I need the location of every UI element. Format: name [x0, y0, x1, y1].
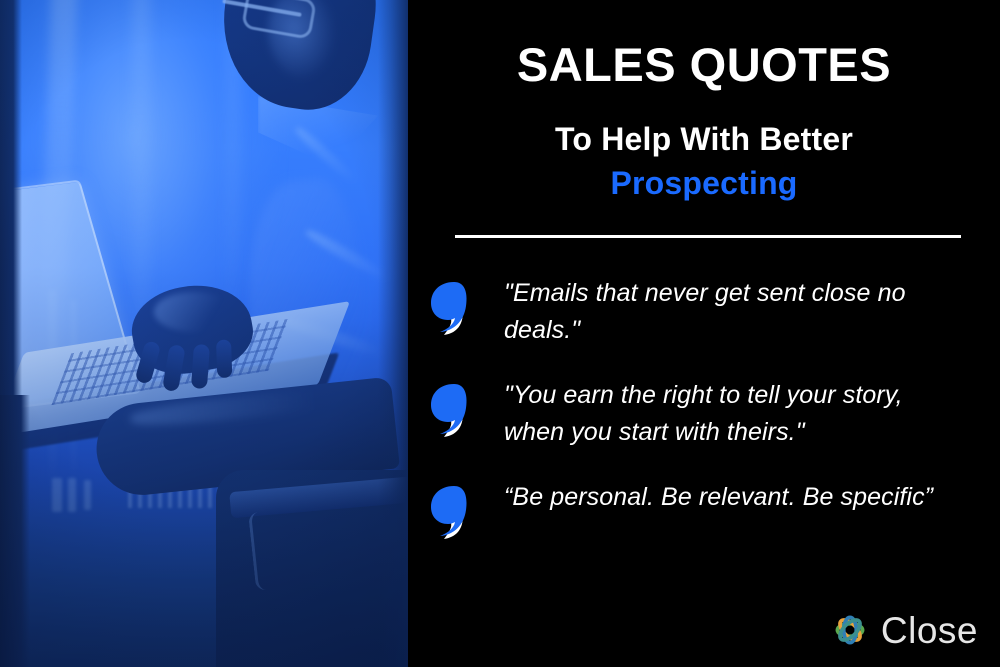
content-panel: SALES QUOTES To Help With Better Prospec… — [408, 0, 1000, 667]
close-logo: Close — [829, 609, 978, 651]
page-subtitle-accent: Prospecting — [408, 166, 1000, 201]
list-item: "Emails that never get sent close no dea… — [408, 275, 1000, 349]
shelf-item-b — [68, 478, 76, 512]
finger — [191, 344, 210, 389]
quote-mark-icon — [428, 381, 486, 439]
quote-text: "Emails that never get sent close no dea… — [504, 275, 1000, 349]
trouser-pocket — [248, 507, 315, 591]
close-atom-logo-icon — [829, 609, 871, 651]
close-wordmark: Close — [881, 612, 978, 649]
page-title: SALES QUOTES — [408, 40, 1000, 89]
list-item: "You earn the right to tell your story, … — [408, 377, 1000, 451]
person-hand-highlight — [154, 292, 234, 332]
photo-right-shadow — [378, 0, 408, 667]
quote-text: "You earn the right to tell your story, … — [504, 377, 1000, 451]
hero-photo — [0, 0, 408, 667]
list-item: “Be personal. Be relevant. Be specific” — [408, 479, 1000, 541]
shelf-item-a — [52, 478, 62, 512]
photo-left-shadow-lower — [0, 395, 30, 667]
header-divider — [455, 235, 961, 238]
shelf-item-c — [84, 480, 91, 510]
finger — [216, 339, 232, 378]
page-subtitle: To Help With Better — [408, 122, 1000, 157]
sales-quotes-card: SALES QUOTES To Help With Better Prospec… — [0, 0, 1000, 667]
quote-text: “Be personal. Be relevant. Be specific” — [504, 479, 1000, 516]
quote-mark-icon — [428, 279, 486, 337]
quote-list: "Emails that never get sent close no dea… — [408, 275, 1000, 569]
quote-mark-icon — [428, 483, 486, 541]
